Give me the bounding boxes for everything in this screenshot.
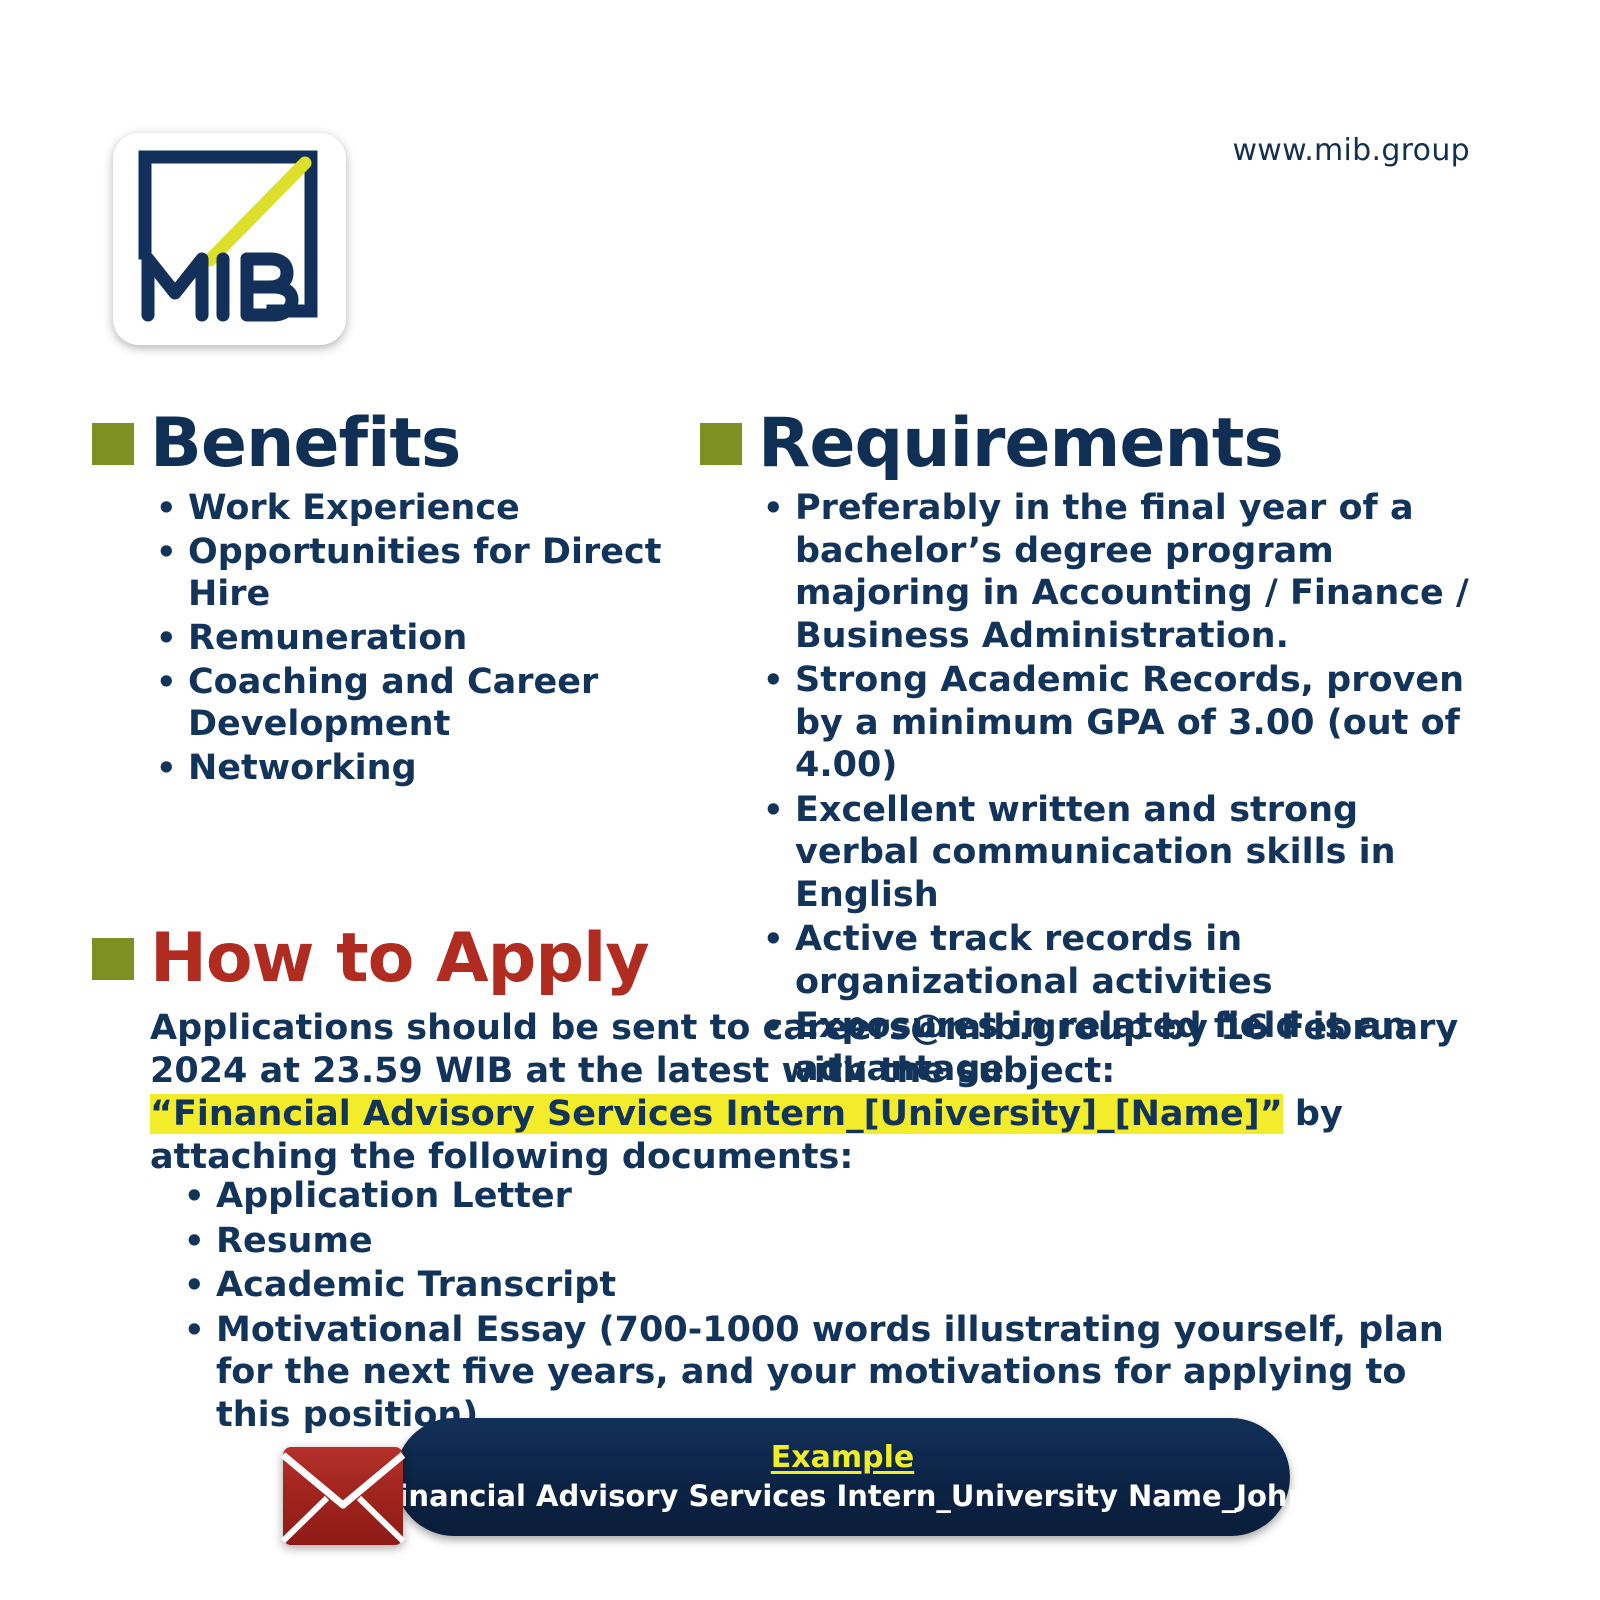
benefits-heading-label: Benefits <box>150 410 460 478</box>
list-item: Resume <box>178 1220 1478 1263</box>
olive-square-bullet-icon <box>92 938 134 980</box>
list-item: Strong Academic Records, proven by a min… <box>757 659 1477 787</box>
list-item: Opportunities for Direct Hire <box>150 531 710 615</box>
olive-square-bullet-icon <box>700 423 742 465</box>
list-item: Excellent written and strong verbal comm… <box>757 789 1477 917</box>
list-item: Networking <box>150 747 710 789</box>
benefits-list: Work Experience Opportunities for Direct… <box>150 487 710 791</box>
requirements-list: Preferably in the final year of a bachel… <box>757 487 1477 1092</box>
list-item: Preferably in the final year of a bachel… <box>757 487 1477 657</box>
envelope-icon <box>281 1443 405 1547</box>
example-banner-subject: Subject: Financial Advisory Services Int… <box>234 1480 1451 1513</box>
benefits-heading: Benefits <box>92 410 460 478</box>
list-item: Academic Transcript <box>178 1264 1478 1307</box>
documents-list: Application Letter Resume Academic Trans… <box>178 1175 1478 1438</box>
mib-logo <box>113 133 346 345</box>
example-banner-label: Example <box>771 1441 914 1476</box>
requirements-heading-label: Requirements <box>758 410 1283 478</box>
how-to-apply-heading-label: How to Apply <box>150 925 649 993</box>
website-url[interactable]: www.mib.group <box>1232 133 1470 168</box>
list-item: Application Letter <box>178 1175 1478 1218</box>
list-item: Coaching and Career Development <box>150 661 710 745</box>
subject-highlight: “Financial Advisory Services Intern_[Uni… <box>150 1094 1283 1134</box>
olive-square-bullet-icon <box>92 423 134 465</box>
mib-logo-icon <box>113 133 346 345</box>
how-to-apply-paragraph: Applications should be sent to careers@m… <box>150 1007 1480 1179</box>
list-item: Work Experience <box>150 487 710 529</box>
poster-root: www.mib.group <box>0 0 1600 1600</box>
list-item: Remuneration <box>150 617 710 659</box>
example-banner: Example Subject: Financial Advisory Serv… <box>395 1418 1290 1536</box>
apply-intro-text: Applications should be sent to careers@m… <box>150 1008 1458 1091</box>
requirements-heading: Requirements <box>700 410 1283 478</box>
list-item: Active track records in organizational a… <box>757 918 1477 1003</box>
list-item: Motivational Essay (700-1000 words illus… <box>178 1309 1478 1437</box>
how-to-apply-heading: How to Apply <box>92 925 649 993</box>
